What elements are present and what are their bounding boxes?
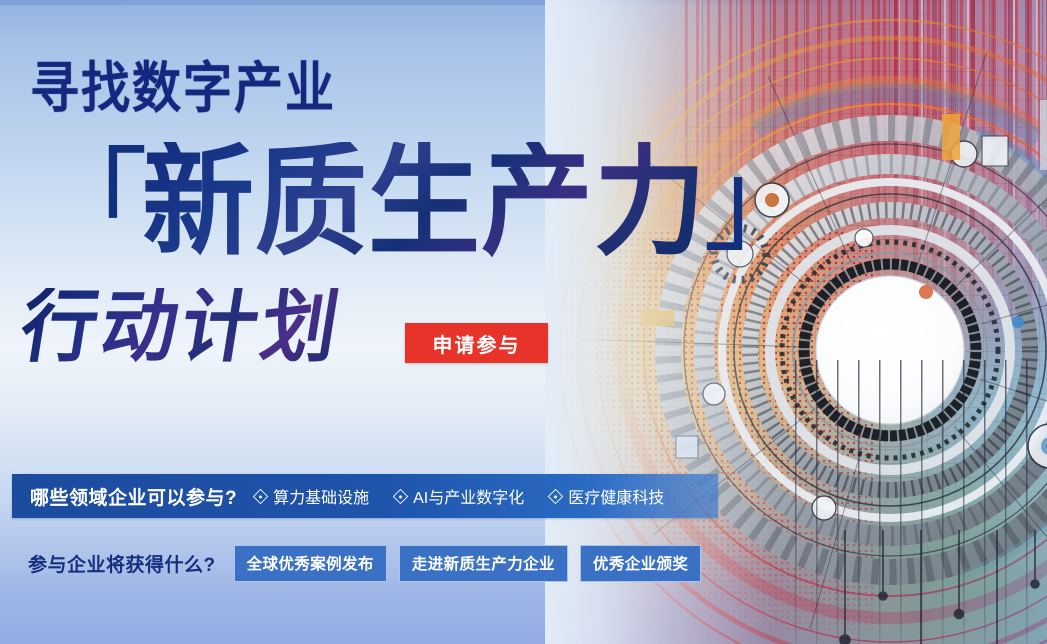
eligibility-item-list: 算力基础设施 AI与产业数字化 医疗健康科技 bbox=[255, 484, 690, 508]
benefits-row: 参与企业将获得什么? 全球优秀案例发布 走进新质生产力企业 优秀企业颁奖 bbox=[28, 546, 713, 580]
eligibility-item[interactable]: AI与产业数字化 bbox=[395, 484, 524, 508]
eligibility-item-label: AI与产业数字化 bbox=[413, 484, 524, 508]
benefits-question: 参与企业将获得什么? bbox=[28, 550, 216, 577]
eligibility-item[interactable]: 医疗健康科技 bbox=[550, 484, 664, 508]
promo-poster: 寻找数字产业 「 新质生产力 」 行动计划 申请参与 哪些领域企业可以参与? 算… bbox=[0, 0, 1047, 644]
poster-headline-text: 新质生产力 bbox=[142, 142, 707, 263]
diamond-dot-icon bbox=[393, 488, 409, 504]
eligibility-item-label: 医疗健康科技 bbox=[568, 484, 664, 508]
vertical-streaks-layer-2 bbox=[875, 0, 1047, 360]
benefit-tag[interactable]: 全球优秀案例发布 bbox=[234, 545, 387, 582]
bracket-close: 」 bbox=[703, 146, 815, 258]
drip-lines-layer bbox=[795, 360, 1047, 644]
poster-subline: 行动计划 bbox=[15, 288, 348, 368]
eligibility-item-label: 算力基础设施 bbox=[273, 484, 369, 508]
benefit-tag[interactable]: 走进新质生产力企业 bbox=[399, 545, 568, 582]
eligibility-item[interactable]: 算力基础设施 bbox=[255, 484, 369, 508]
poster-kicker: 寻找数字产业 bbox=[30, 62, 336, 117]
poster-headline: 「 新质生产力 」 bbox=[36, 142, 815, 258]
diamond-dot-icon bbox=[548, 488, 564, 504]
eligibility-bar: 哪些领域企业可以参与? 算力基础设施 AI与产业数字化 医疗健康科技 bbox=[12, 474, 718, 518]
apply-button[interactable]: 申请参与 bbox=[405, 323, 548, 363]
diamond-dot-icon bbox=[253, 488, 269, 504]
eligibility-question: 哪些领域企业可以参与? bbox=[30, 483, 237, 510]
bracket-open: 「 bbox=[36, 146, 148, 258]
benefit-tag[interactable]: 优秀企业颁奖 bbox=[580, 545, 701, 582]
